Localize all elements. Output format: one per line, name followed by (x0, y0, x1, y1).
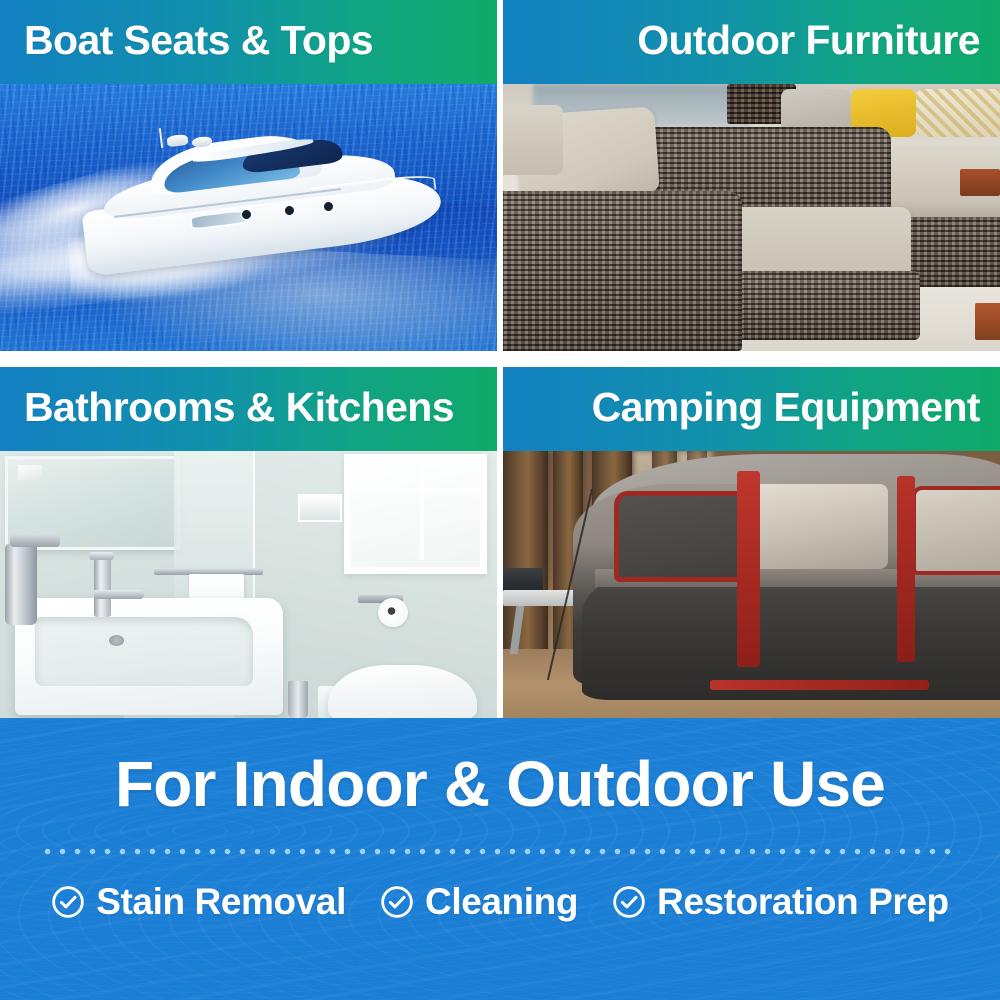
dotted-divider (40, 848, 960, 855)
window-mullion-vertical (420, 454, 424, 561)
feature-item-cleaning: Cleaning (380, 883, 578, 920)
indoor-outdoor-banner: For Indoor & Outdoor Use Stain Removal C… (0, 718, 1000, 1000)
feature-label-restoration-prep: Restoration Prep (657, 883, 949, 920)
banner-headline: For Indoor & Outdoor Use (115, 752, 885, 816)
camping-tent (573, 454, 1000, 705)
feature-list: Stain Removal Cleaning Restoration Prep (51, 883, 949, 920)
panel-title-camping-equipment: Camping Equipment (568, 387, 1000, 432)
faucet-handle (89, 552, 114, 560)
tent-base-trim (710, 680, 929, 690)
product-feature-poster: Boat Seats & Tops (0, 0, 1000, 1000)
bathroom-window (344, 454, 487, 575)
wood-table-leg (975, 303, 1000, 340)
wood-side-table-trim (960, 169, 1000, 196)
check-circle-icon (51, 885, 85, 919)
soap-dispenser-pump (10, 534, 60, 547)
wicker-chair-arm (503, 191, 742, 351)
panel-header-bathrooms-kitchens: Bathrooms & Kitchens (0, 367, 497, 451)
toilet-brush (288, 681, 308, 718)
speedboat (84, 121, 442, 276)
camping-tent-photo (503, 451, 1000, 718)
boat-antenna-mast (158, 128, 162, 148)
speedboat-on-water-photo (0, 84, 497, 351)
patterned-throw-pillow (916, 89, 1000, 137)
chair-side-cushion (503, 105, 563, 174)
feature-label-stain-removal: Stain Removal (96, 883, 346, 920)
use-case-panel-boat-seats-tops: Boat Seats & Tops (0, 0, 497, 351)
window-mullion-horizontal (358, 488, 487, 492)
use-case-grid: Boat Seats & Tops (0, 0, 1000, 718)
camp-stove (503, 568, 543, 592)
faucet-spout (94, 590, 144, 599)
mirror-reflection (18, 465, 42, 481)
wall-niche-shelf (298, 494, 342, 522)
chrome-faucet (94, 558, 111, 617)
panel-header-boat-seats-tops: Boat Seats & Tops (0, 0, 497, 84)
panel-title-boat-seats-tops: Boat Seats & Tops (0, 20, 395, 65)
boat-radome (166, 134, 189, 147)
use-case-panel-outdoor-furniture: Outdoor Furniture (503, 0, 1000, 351)
sink-drain (109, 635, 124, 646)
check-circle-icon (380, 885, 414, 919)
tent-mesh-window (751, 484, 888, 569)
wicker-patio-furniture-photo (503, 84, 1000, 351)
use-case-panel-bathrooms-kitchens: Bathrooms & Kitchens (0, 367, 497, 718)
feature-label-cleaning: Cleaning (425, 883, 578, 920)
panel-title-bathrooms-kitchens: Bathrooms & Kitchens (0, 387, 476, 432)
feature-item-stain-removal: Stain Removal (51, 883, 346, 920)
sink-basin (35, 617, 254, 686)
tent-door-zipper-trim (897, 476, 915, 662)
toilet-paper-roll (378, 598, 408, 627)
use-case-panel-camping-equipment: Camping Equipment (503, 367, 1000, 718)
soap-dispenser (5, 544, 37, 624)
panel-header-camping-equipment: Camping Equipment (503, 367, 1000, 451)
white-bathroom-photo (0, 451, 497, 718)
tent-door-mesh-panel (614, 491, 747, 581)
panel-title-outdoor-furniture: Outdoor Furniture (613, 20, 1000, 65)
panel-header-outdoor-furniture: Outdoor Furniture (503, 0, 1000, 84)
tent-side-window (912, 486, 1000, 574)
check-circle-icon (612, 885, 646, 919)
tent-door-zipper-trim (737, 471, 760, 667)
feature-item-restoration-prep: Restoration Prep (612, 883, 949, 920)
